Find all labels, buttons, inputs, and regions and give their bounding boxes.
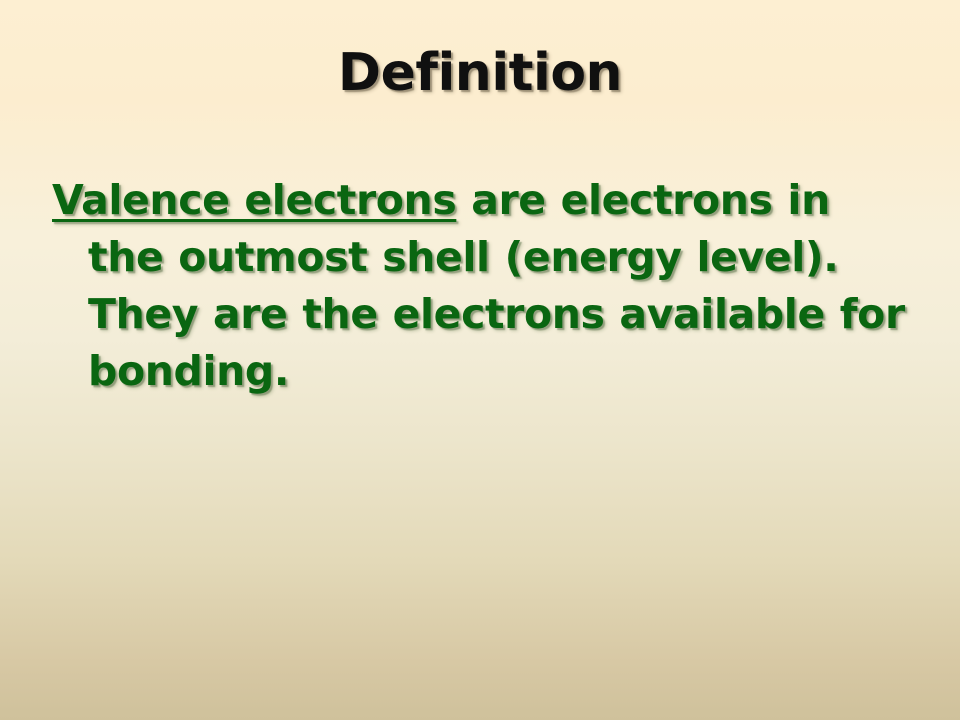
page-title: Definition (338, 46, 622, 101)
slide-body-container: Valence electrons are electrons in the o… (52, 172, 908, 400)
definition-term: Valence electrons (52, 176, 456, 224)
definition-paragraph: Valence electrons are electrons in the o… (52, 172, 908, 400)
slide-canvas: Definition Valence electrons are electro… (0, 0, 960, 720)
slide-title-container: Definition (0, 46, 960, 101)
